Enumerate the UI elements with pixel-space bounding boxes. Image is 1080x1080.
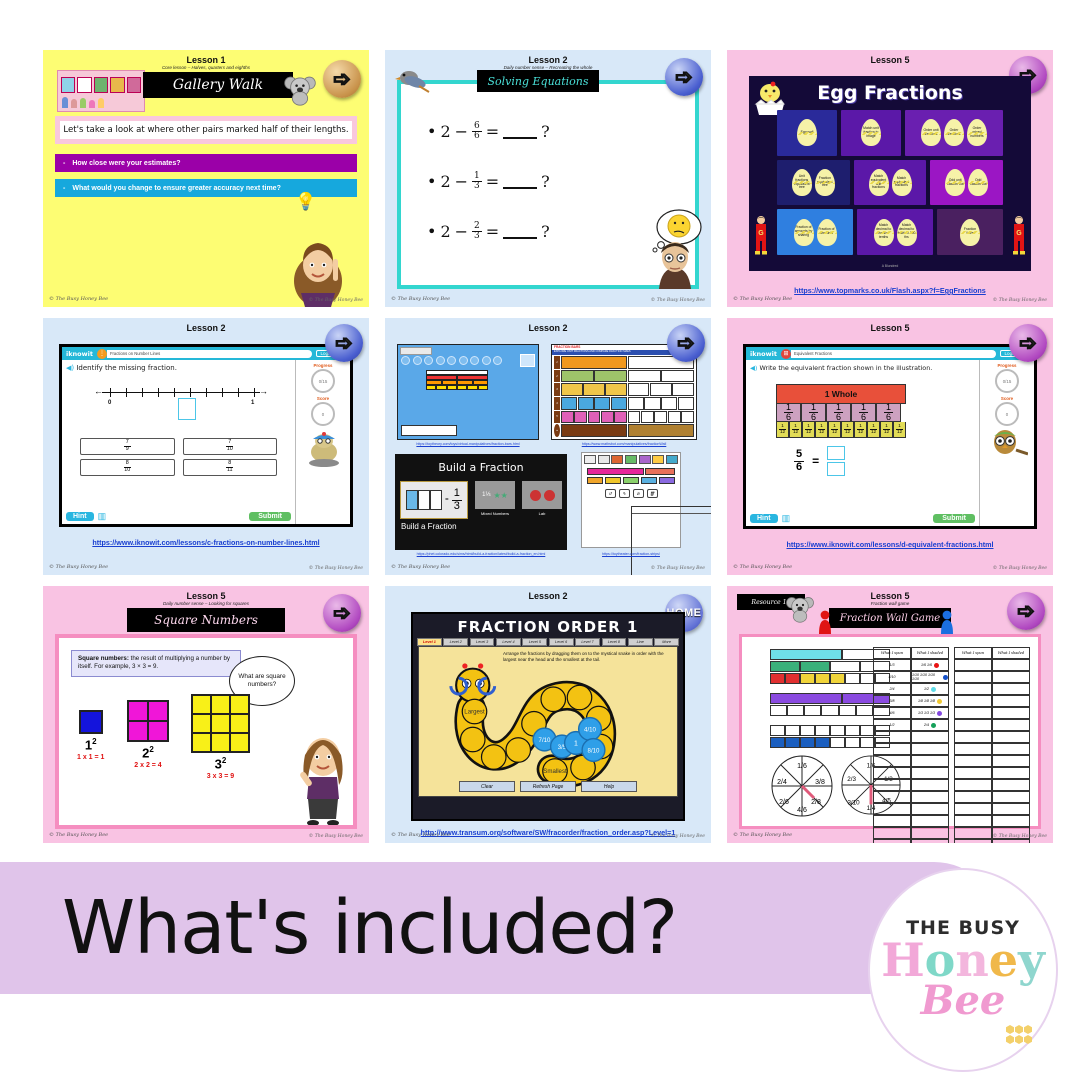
answer-blank[interactable] bbox=[503, 175, 537, 189]
slide-script-title: Solving Equations bbox=[477, 70, 599, 92]
operator: − bbox=[455, 222, 468, 241]
sim-url[interactable]: https://toytheory.com/toys/virtual-manip… bbox=[397, 442, 539, 446]
superhero-right-icon: G bbox=[1011, 215, 1027, 255]
script-title-text: Solving Equations bbox=[487, 75, 588, 88]
next-slide-button[interactable]: ➩ bbox=[667, 324, 705, 362]
egg-button[interactable]: Match decimal to fraction tenths bbox=[874, 219, 894, 246]
table-row: 4/101/10 1/10 1/10 1/10 bbox=[873, 671, 949, 683]
fraction: 2 3 bbox=[472, 222, 482, 242]
progress-panel: Progress 0/15 Score 0 bbox=[295, 360, 350, 524]
next-slide-button[interactable]: ➩ bbox=[323, 60, 361, 98]
operator: − bbox=[455, 122, 468, 141]
egg-button[interactable]: Match equivalent fractions bbox=[892, 169, 912, 196]
hint-button[interactable]: Hint bbox=[66, 512, 94, 521]
table-row bbox=[954, 731, 1030, 743]
teacher-avatar bbox=[289, 715, 351, 825]
equals: = bbox=[486, 222, 499, 241]
level-tab-3[interactable]: Level 3 bbox=[470, 638, 495, 646]
twelfth-cell: 112 bbox=[802, 422, 815, 438]
square-group-2: 22 2 x 2 = 4 bbox=[127, 700, 169, 769]
whole-bar: 1 Whole bbox=[776, 384, 906, 404]
question-text: ◀) Write the equivalent fraction shown i… bbox=[750, 364, 975, 372]
bullet-dot: • bbox=[427, 172, 436, 191]
kookaburra-icon bbox=[395, 68, 431, 94]
equation-row-3: • 2 − 2 3 = ? bbox=[427, 222, 550, 242]
egg-group[interactable]: Unit fractions equivalent tree Fraction … bbox=[777, 160, 850, 206]
level-tab-2[interactable]: Level 2 bbox=[443, 638, 468, 646]
egg-row: Unit fractions equivalent tree Fraction … bbox=[777, 160, 1003, 206]
game-title: Egg Fractions bbox=[749, 82, 1031, 104]
lab-tile[interactable] bbox=[522, 481, 562, 509]
egg-button[interactable]: Fraction of amounts bbox=[817, 219, 837, 246]
lesson-subtitle: Daily number sense – Looking for squares bbox=[43, 601, 369, 606]
strip-palette[interactable] bbox=[582, 453, 680, 466]
twelfth-cell: 112 bbox=[776, 422, 789, 438]
whole-number: 2 bbox=[440, 122, 450, 141]
next-slide-button[interactable]: ➩ bbox=[323, 594, 361, 632]
arrow-right-icon: ➩ bbox=[335, 333, 353, 354]
table-row: 4/61/3 1/3 1/3 bbox=[873, 707, 949, 719]
option-button[interactable]: 811 bbox=[183, 459, 278, 476]
egg-fractions-game[interactable]: Egg Fractions G bbox=[749, 76, 1031, 271]
topic-badge-icon: ⊞ bbox=[781, 349, 791, 359]
tile-caption: Lab bbox=[539, 511, 546, 516]
fraction-order-game[interactable]: FRACTION ORDER 1 Level 1 Level 2 Level 3… bbox=[411, 612, 685, 821]
arrow-right-icon: ➩ bbox=[333, 69, 351, 90]
sixth-cell: 16 bbox=[876, 404, 901, 422]
app-topic-tab[interactable]: Fractions on Number Lines bbox=[107, 350, 312, 358]
slide-card-solving-equations[interactable]: Lesson 2 Daily number sense – Recreating… bbox=[385, 50, 711, 307]
script-title-text: Fraction Wall Game bbox=[840, 613, 940, 624]
twelfth-cell: 112 bbox=[815, 422, 828, 438]
egg-group[interactable]: Odd unit fraction out Odd fraction out bbox=[930, 160, 1003, 206]
calculator-icon[interactable]: ▥ bbox=[98, 511, 107, 522]
game-canvas[interactable]: Arrange the fractions by dragging them o… bbox=[418, 646, 678, 797]
record-table-left: What I spun What I shaded 1/31/6 1/6 4/1… bbox=[873, 647, 949, 843]
level-tab-8[interactable]: Level 8 bbox=[602, 638, 627, 646]
copyright-right: © The Busy Honey Bee bbox=[993, 298, 1047, 303]
fraction: 1 3 bbox=[452, 488, 462, 512]
svg-text:4/10: 4/10 bbox=[584, 727, 596, 734]
progress-label: Progress bbox=[313, 363, 332, 368]
egg-group[interactable]: Egg wall bbox=[777, 110, 837, 156]
equation-row-2: • 2 − 1 3 = ? bbox=[427, 172, 550, 192]
submit-button[interactable]: Submit bbox=[933, 514, 975, 523]
resource-url[interactable]: https://www.iknowit.com/lessons/d-equiva… bbox=[727, 540, 1053, 549]
square-group-3: 32 3 x 3 = 9 bbox=[191, 694, 250, 780]
table-row bbox=[873, 767, 949, 779]
table-row bbox=[954, 695, 1030, 707]
twelfth-cell: 112 bbox=[880, 422, 893, 438]
egg-button[interactable]: Fraction of amounts by sharing bbox=[794, 219, 814, 246]
table-row bbox=[954, 659, 1030, 671]
copyright-right: © The Busy Honey Bee bbox=[651, 834, 705, 839]
mascot-mole-icon bbox=[302, 432, 346, 468]
fraction: 6 6 bbox=[472, 122, 482, 142]
answer-denominator-input[interactable] bbox=[827, 462, 845, 476]
snake-graphic: Largest Smallest 7/10 bbox=[419, 659, 677, 799]
egg-group[interactable]: Fraction of amounts by sharing Fraction … bbox=[777, 209, 853, 255]
tick-label-start: 0 bbox=[108, 400, 111, 406]
app-toolbar: iknowit ⋮ Fractions on Number Lines Logi… bbox=[62, 347, 350, 360]
progress-label: Progress bbox=[997, 363, 1016, 368]
square-equation: 1 x 1 = 1 bbox=[77, 754, 104, 761]
lightbulb-icon: 💡 bbox=[295, 192, 316, 212]
lesson-label: Lesson 2 bbox=[385, 591, 711, 601]
level-tab-5[interactable]: Level 5 bbox=[522, 638, 547, 646]
arrow-right-icon: ➩ bbox=[1019, 333, 1037, 354]
strip-bank[interactable] bbox=[582, 466, 680, 486]
progress-value: 0/15 bbox=[311, 369, 335, 393]
copyright-right: © The Busy Honey Bee bbox=[309, 298, 363, 303]
slide-card-equivalent-fractions[interactable]: Lesson 5 iknowit ⊞ Equivalent Fractions … bbox=[727, 318, 1053, 575]
koala-icon bbox=[283, 72, 317, 106]
table-row bbox=[873, 827, 949, 839]
svg-text:Largest: Largest bbox=[464, 708, 485, 715]
game-counter-blue-icon bbox=[939, 610, 955, 634]
resource-url[interactable]: https://www.iknowit.com/lessons/c-fracti… bbox=[43, 538, 369, 547]
fraction-wall-strips bbox=[770, 649, 890, 749]
copyright-left: © The Busy Honey Bee bbox=[733, 296, 792, 302]
gallery-illustration bbox=[57, 70, 145, 112]
egg-row: Egg wall Match unit fraction to image Or… bbox=[777, 110, 1003, 156]
table-row bbox=[954, 671, 1030, 683]
slide-card-fraction-order[interactable]: Lesson 2 HOME FRACTION ORDER 1 Level 1 L… bbox=[385, 586, 711, 843]
question-text: ◀) Identify the missing fraction. bbox=[66, 364, 291, 372]
script-title-text: Square Numbers bbox=[154, 613, 258, 627]
brand-logo: THE BUSY Honey Bee bbox=[868, 868, 1058, 1072]
worksheet-frame: 1/6 3/8 2/8 4/6 2/6 2/4 1/6 1/3 4/5 1/4 bbox=[739, 634, 1041, 829]
egg-group[interactable]: Order unit fractions Order fractions Ord… bbox=[905, 110, 1003, 156]
sixth-cell: 16 bbox=[826, 404, 851, 422]
egg-button[interactable]: Order fractions bbox=[944, 119, 964, 146]
eraser-icon[interactable]: ⊘ bbox=[633, 489, 644, 498]
level-tab-4[interactable]: Level 4 bbox=[496, 638, 521, 646]
table-row bbox=[954, 707, 1030, 719]
answer-equation: 5 6 = bbox=[794, 446, 845, 476]
record-table-right: What I spun What I shaded bbox=[954, 647, 1030, 843]
table-row bbox=[954, 767, 1030, 779]
script-title-text: Gallery Walk bbox=[173, 77, 263, 93]
level-tab-more[interactable]: More bbox=[654, 638, 679, 646]
next-slide-button[interactable]: ➩ bbox=[1009, 324, 1047, 362]
egg-button[interactable]: Order mixed numbers bbox=[967, 119, 987, 146]
content-frame: Square numbers: the result of multiplyin… bbox=[55, 634, 357, 829]
score-value: 0 bbox=[995, 402, 1019, 426]
equation-row-1: • 2 − 6 6 = ? bbox=[427, 122, 550, 142]
egg-button[interactable]: Match decimal to fraction 100 ths bbox=[897, 219, 917, 246]
slide-card-fraction-manipulatives[interactable]: Lesson 2 https://toytheory.com/toys/virt… bbox=[385, 318, 711, 575]
table-row bbox=[954, 791, 1030, 803]
dash-icon: - bbox=[63, 185, 65, 192]
iknowit-logo: iknowit bbox=[66, 350, 93, 358]
copyright-left: © The Busy Honey Bee bbox=[49, 564, 108, 570]
column-header: What I shaded bbox=[911, 647, 949, 659]
fraction-bars-sim[interactable] bbox=[397, 344, 539, 440]
fraction-bar-stack bbox=[426, 370, 488, 390]
table-row bbox=[873, 779, 949, 791]
table-row bbox=[954, 743, 1030, 755]
build-a-fraction-phet[interactable]: Build a Fraction = 1 3 bbox=[395, 454, 567, 550]
iknowit-logo: iknowit bbox=[750, 350, 777, 358]
copyright-right: © The Busy Honey Bee bbox=[309, 566, 363, 571]
help-button[interactable]: Help bbox=[581, 781, 637, 792]
arrow-right-icon: → bbox=[259, 387, 268, 396]
question-mark: ? bbox=[541, 172, 550, 191]
lesson-label: Lesson 2 bbox=[385, 323, 711, 333]
tool-buttons[interactable]: ↺ ✎ ⊘ 🗑 bbox=[582, 489, 680, 498]
table-row bbox=[873, 815, 949, 827]
teacher-avatar bbox=[287, 221, 349, 307]
slide-card-fraction-wall-game[interactable]: Lesson 5 Fraction wall game Resource 13 … bbox=[727, 586, 1053, 843]
given-fraction: 5 6 bbox=[794, 449, 804, 473]
sixth-cell: 16 bbox=[776, 404, 801, 422]
level-tab-1[interactable]: Level 1 bbox=[417, 638, 442, 646]
progress-panel: Progress 0/15 Score 0 bbox=[979, 360, 1034, 526]
copyright-left: © The Busy Honey Bee bbox=[391, 832, 450, 838]
svg-text:7/10: 7/10 bbox=[539, 737, 551, 744]
twelfth-cell: 112 bbox=[789, 422, 802, 438]
dash-icon: - bbox=[63, 160, 65, 167]
tick-label-end: 1 bbox=[251, 400, 254, 406]
table-row bbox=[954, 683, 1030, 695]
svg-text:2/6: 2/6 bbox=[779, 799, 789, 806]
number-line: ← → 0 1 bbox=[96, 386, 266, 400]
svg-text:1: 1 bbox=[574, 741, 578, 748]
svg-text:2/4: 2/4 bbox=[777, 779, 787, 786]
svg-text:2/3: 2/3 bbox=[847, 776, 856, 783]
column-header: What I spun bbox=[873, 647, 911, 659]
twelfth-cell: 112 bbox=[893, 422, 906, 438]
egg-button[interactable]: Match equivalent unit fractions bbox=[869, 169, 889, 196]
lesson-label: Lesson 2 bbox=[43, 323, 369, 333]
option-button[interactable]: 79 bbox=[80, 438, 175, 455]
option-button[interactable]: 710 bbox=[183, 438, 278, 455]
spinner-left[interactable]: 1/6 3/8 2/8 4/6 2/6 2/4 bbox=[770, 754, 834, 818]
sixth-cell: 16 bbox=[851, 404, 876, 422]
answer-numerator-input[interactable] bbox=[827, 446, 845, 460]
definition-box: Square numbers: the result of multiplyin… bbox=[71, 650, 241, 677]
record-table: What I spun What I shaded 1/31/6 1/6 4/1… bbox=[873, 647, 1030, 843]
copyright-left: © The Busy Honey Bee bbox=[733, 832, 792, 838]
hint-button[interactable]: Hint bbox=[750, 514, 778, 523]
egg-button[interactable]: Odd unit fraction out bbox=[945, 169, 965, 196]
egg-button[interactable]: Fraction lines bbox=[960, 219, 980, 246]
copyright-right: © The Busy Honey Bee bbox=[993, 834, 1047, 839]
table-row bbox=[873, 803, 949, 815]
question-mark: ? bbox=[541, 122, 550, 141]
audio-icon[interactable]: ◀) bbox=[750, 364, 757, 372]
table-row: 1/31/6 1/6 bbox=[873, 659, 949, 671]
equals: = bbox=[486, 172, 499, 191]
trash-icon[interactable]: 🗑 bbox=[647, 489, 658, 498]
slide-script-title: Fraction Wall Game bbox=[829, 608, 951, 628]
egg-group[interactable]: Match equivalent unit fractions Match eq… bbox=[854, 160, 927, 206]
table-row bbox=[873, 731, 949, 743]
game-buttons[interactable]: Clear Refresh Page Help bbox=[424, 781, 672, 792]
next-slide-button[interactable]: ➩ bbox=[665, 58, 703, 96]
table-row bbox=[954, 803, 1030, 815]
egg-button[interactable]: Match unit fraction to image bbox=[861, 119, 881, 146]
slide-script-title: Gallery Walk bbox=[143, 72, 293, 98]
slide-card-gallery-walk[interactable]: Lesson 1 Core lesson – Halves, quarters … bbox=[43, 50, 369, 307]
clear-button[interactable]: Clear bbox=[459, 781, 515, 792]
bullet-dot: • bbox=[427, 122, 436, 141]
square-equation: 2 x 2 = 4 bbox=[134, 762, 161, 769]
lesson-label: Lesson 2 bbox=[385, 55, 711, 65]
arrow-right-icon: ➩ bbox=[677, 333, 695, 354]
game-counter-red-icon bbox=[817, 610, 833, 634]
copyright-left: © The Busy Honey Bee bbox=[391, 296, 450, 302]
statement-text: Let's take a look at where other pairs m… bbox=[63, 125, 348, 135]
equals: = bbox=[486, 122, 499, 141]
honeycomb-icon bbox=[1006, 1025, 1032, 1044]
banner-heading: What's included? bbox=[62, 885, 677, 971]
egg-button[interactable]: Odd fraction out bbox=[968, 169, 988, 196]
lesson-label: Lesson 5 bbox=[727, 55, 1053, 65]
build-a-fraction-tile[interactable]: = 1 3 bbox=[400, 481, 468, 519]
egg-button[interactable]: Fraction equivalent tree bbox=[815, 169, 835, 196]
table-row bbox=[873, 791, 949, 803]
table-row bbox=[954, 755, 1030, 767]
mascot-owl-icon bbox=[988, 428, 1028, 458]
egg-group[interactable]: Match unit fraction to image bbox=[841, 110, 901, 156]
missing-fraction-slot[interactable] bbox=[178, 398, 196, 420]
table-row bbox=[873, 755, 949, 767]
next-slide-button[interactable]: ➩ bbox=[1007, 592, 1045, 630]
egg-button[interactable]: Egg wall bbox=[797, 119, 817, 146]
tile-caption: Mixed Numbers bbox=[481, 511, 509, 516]
lesson-label: Lesson 1 bbox=[43, 55, 369, 65]
level-tab-6[interactable]: Level 6 bbox=[549, 638, 574, 646]
slide-card-square-numbers[interactable]: Lesson 5 Daily number sense – Looking fo… bbox=[43, 586, 369, 843]
logo-line-3: Bee bbox=[921, 977, 1006, 1024]
sim-tray[interactable] bbox=[401, 425, 457, 436]
level-tab-7[interactable]: Level 7 bbox=[575, 638, 600, 646]
egg-button[interactable]: Unit fractions equivalent tree bbox=[792, 169, 812, 196]
sixths-row: 16 16 16 16 16 bbox=[776, 404, 906, 422]
svg-text:3/10: 3/10 bbox=[847, 799, 860, 806]
pencil-icon[interactable]: ✎ bbox=[619, 489, 630, 498]
egg-row: Fraction of amounts by sharing Fraction … bbox=[777, 209, 1003, 255]
sim-fraction-circles[interactable] bbox=[401, 356, 502, 365]
app-toolbar: iknowit ⊞ Equivalent Fractions Login ☰ bbox=[746, 347, 1034, 360]
table-row bbox=[873, 743, 949, 755]
game-title: FRACTION ORDER 1 bbox=[413, 614, 683, 636]
lesson-label: Lesson 5 bbox=[43, 591, 369, 601]
fraction-wall-illustration: 1 Whole 16 16 16 16 16 112 bbox=[776, 384, 906, 438]
tool-url[interactable]: https://toytheater.com/fraction-strips/ bbox=[571, 552, 691, 556]
square-group-1: 12 1 x 1 = 1 bbox=[77, 710, 104, 761]
arrow-right-icon: ➩ bbox=[675, 67, 693, 88]
work-grid[interactable] bbox=[631, 506, 711, 575]
column-header: What I shaded bbox=[992, 647, 1030, 659]
next-slide-button[interactable]: ➩ bbox=[325, 324, 363, 362]
slide-card-fractions-number-lines[interactable]: Lesson 2 iknowit ⋮ Fractions on Number L… bbox=[43, 318, 369, 575]
statement-banner: Let's take a look at where other pairs m… bbox=[55, 116, 357, 144]
sixth-cell: 16 bbox=[801, 404, 826, 422]
mixed-numbers-tile[interactable]: 1⅓★★ bbox=[475, 481, 515, 509]
discussion-bullet-1: - How close were your estimates? bbox=[55, 154, 357, 172]
level-tab-line[interactable]: Line bbox=[628, 638, 653, 646]
thought-text: What are square numbers? bbox=[230, 673, 294, 690]
answer-blank[interactable] bbox=[503, 225, 537, 239]
score-label: Score bbox=[317, 396, 329, 401]
whole-number: 2 bbox=[440, 222, 450, 241]
egg-group[interactable]: Fraction lines bbox=[937, 209, 1003, 255]
iknowit-app-window[interactable]: iknowit ⋮ Fractions on Number Lines Logi… bbox=[59, 344, 353, 527]
app-topic-tab[interactable]: Equivalent Fractions bbox=[791, 350, 996, 358]
sim-caption: Build a Fraction bbox=[395, 522, 567, 531]
submit-button[interactable]: Submit bbox=[249, 512, 291, 521]
copyright-left: © The Busy Honey Bee bbox=[391, 564, 450, 570]
egg-button-grid: Egg wall Match unit fraction to image Or… bbox=[777, 110, 1003, 255]
table-row: 1/22/4 bbox=[873, 719, 949, 731]
tool-url[interactable]: https://www.mathsbot.com/manipulatives/f… bbox=[551, 442, 697, 446]
svg-text:4/6: 4/6 bbox=[797, 807, 807, 814]
fullscreen-icon[interactable] bbox=[520, 354, 535, 367]
copyright-right: © The Busy Honey Bee bbox=[651, 298, 705, 303]
copyright-left: © The Busy Honey Bee bbox=[49, 296, 108, 302]
copyright-left: © The Busy Honey Bee bbox=[733, 564, 792, 570]
sim-url[interactable]: https://phet.colorado.edu/sims/html/buil… bbox=[395, 552, 567, 556]
sim-title: Build a Fraction bbox=[395, 454, 567, 474]
svg-text:2/8: 2/8 bbox=[811, 799, 821, 806]
square-label: 22 bbox=[142, 745, 154, 760]
lesson-label: Lesson 5 bbox=[727, 323, 1053, 333]
whole-number: 2 bbox=[440, 172, 450, 191]
slide-script-title: Square Numbers bbox=[127, 608, 285, 632]
answer-blank[interactable] bbox=[503, 125, 537, 139]
refresh-page-button[interactable]: Refresh Page bbox=[520, 781, 576, 792]
square-label: 32 bbox=[215, 756, 227, 771]
egg-group[interactable]: Match decimal to fraction tenths Match d… bbox=[857, 209, 933, 255]
calculator-icon[interactable]: ▥ bbox=[782, 513, 791, 524]
table-row: 2/41/2 bbox=[873, 683, 949, 695]
student-avatar bbox=[653, 237, 697, 289]
superhero-left-icon: G bbox=[753, 215, 769, 255]
table-row bbox=[873, 839, 949, 843]
copyright-left: © The Busy Honey Bee bbox=[49, 832, 108, 838]
option-button[interactable]: 810 bbox=[80, 459, 175, 476]
slide-card-egg-fractions[interactable]: Lesson 5 ➩ Egg Fractions G bbox=[727, 50, 1053, 307]
copyright-right: © The Busy Honey Bee bbox=[309, 834, 363, 839]
arrow-right-icon: ➩ bbox=[1017, 601, 1035, 622]
svg-text:G: G bbox=[758, 230, 764, 237]
twelfth-cell: 112 bbox=[854, 422, 867, 438]
bullet-2-text: What would you change to ensure greater … bbox=[72, 185, 281, 192]
svg-text:8/10: 8/10 bbox=[588, 748, 600, 755]
square-label: 12 bbox=[85, 737, 97, 752]
table-row bbox=[954, 779, 1030, 791]
resource-url[interactable]: https://www.topmarks.co.uk/Flash.aspx?f=… bbox=[727, 286, 1053, 295]
egg-button[interactable]: Order unit fractions bbox=[921, 119, 941, 146]
arrow-right-icon: ➩ bbox=[333, 603, 351, 624]
audio-icon[interactable]: ◀) bbox=[66, 364, 74, 372]
slide-preview-page: Lesson 1 Core lesson – Halves, quarters … bbox=[0, 0, 1080, 1080]
twelfth-cell: 112 bbox=[841, 422, 854, 438]
undo-icon[interactable]: ↺ bbox=[605, 489, 616, 498]
svg-text:1/6: 1/6 bbox=[797, 763, 807, 770]
twelfths-row: 112 112 112 112 112 112 112 112 112 11 bbox=[776, 422, 906, 438]
fraction-strips-tool[interactable]: ↺ ✎ ⊘ 🗑 bbox=[581, 452, 681, 548]
iknowit-app-window[interactable]: iknowit ⊞ Equivalent Fractions Login ☰ ◀… bbox=[743, 344, 1037, 529]
copyright-right: © The Busy Honey Bee bbox=[651, 566, 705, 571]
sim-toolbar[interactable] bbox=[400, 347, 432, 355]
arrow-left-icon: ← bbox=[94, 387, 103, 396]
column-header: What I spun bbox=[954, 647, 992, 659]
square-equation: 3 x 3 = 9 bbox=[207, 773, 234, 780]
